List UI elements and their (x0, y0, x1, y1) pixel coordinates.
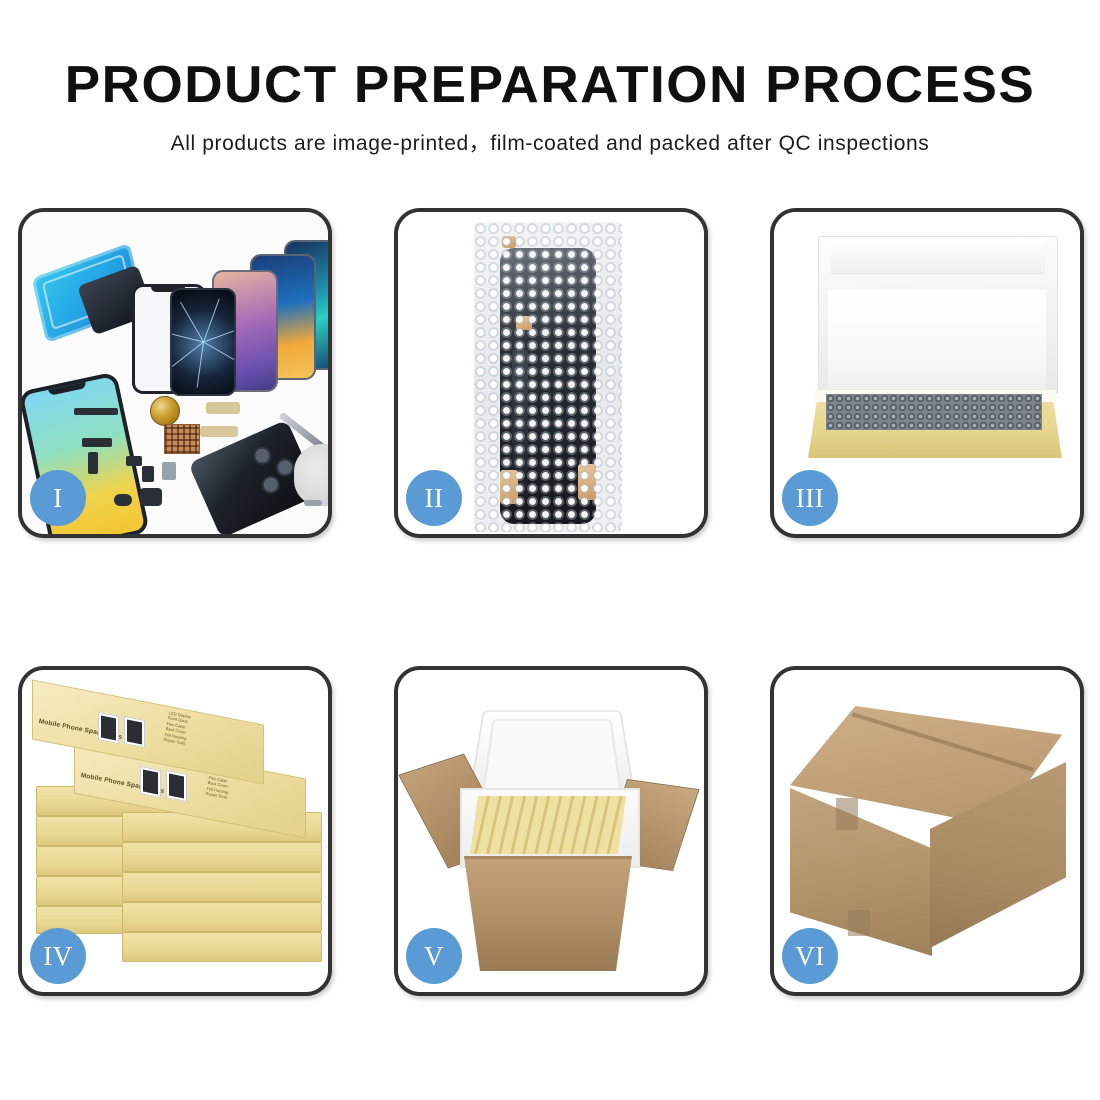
part-screws-icon (304, 500, 322, 506)
page-title: PRODUCT PREPARATION PROCESS (0, 58, 1100, 113)
bubble-wrap-bag-icon (474, 222, 622, 532)
part-small-2-icon (88, 452, 98, 474)
part-connector-icon (162, 462, 176, 480)
carton-tape-left-icon (836, 798, 858, 830)
step-badge-1: I (30, 470, 86, 526)
part-small-4-icon (142, 466, 154, 482)
stacked-box-r4 (122, 902, 322, 932)
process-step-3[interactable]: III (770, 208, 1084, 538)
process-step-4[interactable]: Mobile Phone Spare Parts LCD DisplayFron… (18, 666, 332, 996)
box-screen-icon-lower-1 (140, 766, 161, 798)
stacked-box-r5 (122, 932, 322, 962)
part-flex-cable-2-icon (200, 426, 238, 437)
page-header: PRODUCT PREPARATION PROCESS All products… (0, 58, 1100, 157)
part-strip-icon (74, 408, 118, 415)
part-camera-icon (140, 488, 162, 506)
part-small-1-icon (82, 438, 112, 447)
step-badge-5: V (406, 928, 462, 984)
page-subtitle: All products are image-printed，film-coat… (0, 127, 1100, 157)
part-small-3-icon (126, 456, 142, 466)
step-badge-6: VI (782, 928, 838, 984)
box-screen-icon-lower-2 (166, 770, 187, 802)
phone-cracked-screen-icon (170, 288, 236, 396)
stacked-box-r3 (122, 872, 322, 902)
process-step-1[interactable]: I (18, 208, 332, 538)
box-screen-icon-upper-1 (98, 712, 119, 744)
part-button-icon (114, 494, 132, 506)
stacked-box-r2 (122, 842, 322, 872)
bubble-texture-icon (474, 222, 622, 532)
step-badge-3: III (782, 470, 838, 526)
part-flex-cable-icon (206, 402, 240, 414)
ic-chip-icon (164, 424, 200, 454)
box-screen-icon-upper-2 (124, 716, 145, 748)
step-badge-2: II (406, 470, 462, 526)
yellow-boxes-inside-icon (470, 796, 626, 854)
carton-body-icon (448, 856, 648, 971)
grey-foam-padding-icon (826, 394, 1042, 430)
step-badge-4: IV (30, 928, 86, 984)
process-step-2[interactable]: II (394, 208, 708, 538)
process-step-5[interactable]: V (394, 666, 708, 996)
process-step-6[interactable]: VI (770, 666, 1084, 996)
carton-tape-bottom-icon (848, 910, 870, 936)
speaker-coil-icon (150, 396, 180, 426)
process-step-grid: I II III (18, 208, 1084, 998)
white-foam-sheet-icon (828, 290, 1046, 396)
